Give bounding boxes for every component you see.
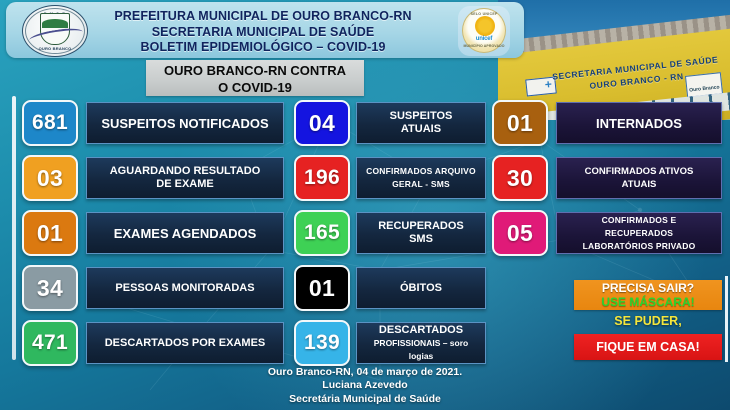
footer-signer-name: Luciana Azevedo <box>0 379 730 393</box>
title-line-2: SECRETARIA MUNICIPAL DE SAÚDE <box>98 25 428 41</box>
stat-value-badge: 01 <box>22 210 78 256</box>
stat-label: PESSOAS MONITORADAS <box>86 267 284 309</box>
advisory-line-1: PRECISA SAIR? <box>574 281 722 295</box>
stat-value-badge: 05 <box>492 210 548 256</box>
stat-value-badge: 471 <box>22 320 78 366</box>
stat-label-line: LABORATÓRIOS PRIVADO <box>583 240 696 253</box>
stat-label-line: EXAMES AGENDADOS <box>114 227 257 240</box>
stat-label: AGUARDANDO RESULTADODE EXAME <box>86 157 284 199</box>
unicef-seal-disc: SELO UNICEF unicef MUNICÍPIO APROVADO <box>462 8 506 53</box>
stat-label-line: SUSPEITOS NOTIFICADOS <box>101 117 268 130</box>
advisory-vertical-rail <box>725 276 728 362</box>
stat-label: DESCARTADOSPROFISSIONAIS – soro logias <box>356 322 486 364</box>
stat-label-line: CONFIRMADOS ATIVOS <box>585 165 694 178</box>
stat-label: CONFIRMADOS ATIVOSATUAIS <box>556 157 722 199</box>
stat-label: RECUPERADOSSMS <box>356 212 486 254</box>
stat-label-line: RECUPERADOS <box>583 227 696 240</box>
stat-value-badge: 30 <box>492 155 548 201</box>
header-bar: P M O B OURO BRANCO PREFEITURA MUNICIPAL… <box>6 2 524 58</box>
stat-row: 01EXAMES AGENDADOS165RECUPERADOSSMS05CON… <box>0 206 730 261</box>
stat-label-line: SMS <box>378 233 464 246</box>
stat-label: CONFIRMADOS ERECUPERADOSLABORATÓRIOS PRI… <box>556 212 722 254</box>
stat-value-badge: 04 <box>294 100 350 146</box>
stat-value-badge: 165 <box>294 210 350 256</box>
crest-hill <box>42 19 68 28</box>
advisory-stay-home-box: FIQUE EM CASA! <box>574 334 722 360</box>
stat-label-line: ATUAIS <box>585 178 694 191</box>
stat-value-badge: 139 <box>294 320 350 366</box>
stat-label-line: AGUARDANDO RESULTADO <box>110 165 261 178</box>
advisory-mask-box: PRECISA SAIR? USE MÁSCARA! <box>574 280 722 310</box>
footer-signer-role: Secretária Municipal de Saúde <box>0 393 730 407</box>
stat-label: EXAMES AGENDADOS <box>86 212 284 254</box>
stat-label: SUSPEITOS NOTIFICADOS <box>86 102 284 144</box>
stat-label-line: DE EXAME <box>110 178 261 191</box>
advisory-panel: PRECISA SAIR? USE MÁSCARA! SE PUDER, FIQ… <box>574 280 722 360</box>
campaign-banner-line2: O COVID-19 <box>146 79 364 96</box>
advisory-line-2: USE MÁSCARA! <box>574 295 722 309</box>
campaign-banner-line1: OURO BRANCO-RN CONTRA <box>146 62 364 79</box>
stat-label-line: CONFIRMADOS E <box>583 214 696 227</box>
stat-label-line: GERAL - SMS <box>366 178 476 191</box>
footer: Ouro Branco-RN, 04 de março de 2021. Luc… <box>0 366 730 407</box>
stat-value-badge: 01 <box>492 100 548 146</box>
stat-label-line: CONFIRMADOS ARQUIVO <box>366 165 476 178</box>
stat-value-badge: 681 <box>22 100 78 146</box>
advisory-line-3: SE PUDER, <box>574 310 722 334</box>
stat-label-line: PROFISSIONAIS – soro logias <box>363 337 479 363</box>
unicef-sun <box>475 16 495 36</box>
unicef-subtext: MUNICÍPIO APROVADO <box>463 44 505 48</box>
title-line-1: PREFEITURA MUNICIPAL DE OURO BRANCO-RN <box>98 9 428 25</box>
stat-label-line: INTERNADOS <box>596 117 682 130</box>
stat-label: SUSPEITOSATUAIS <box>356 102 486 144</box>
footer-location-date: Ouro Branco-RN, 04 de março de 2021. <box>0 366 730 380</box>
stat-label-line: SUSPEITOS <box>390 110 453 123</box>
stat-label-line: RECUPERADOS <box>378 220 464 233</box>
stat-label-line: PESSOAS MONITORADAS <box>115 282 254 295</box>
stat-value-badge: 03 <box>22 155 78 201</box>
stat-label-line: DESCARTADOS POR EXAMES <box>105 337 266 350</box>
stat-row: 03AGUARDANDO RESULTADODE EXAME196CONFIRM… <box>0 151 730 206</box>
stat-label: CONFIRMADOS ARQUIVOGERAL - SMS <box>356 157 486 199</box>
campaign-banner: OURO BRANCO-RN CONTRA O COVID-19 <box>146 60 364 96</box>
title-line-3: BOLETIM EPIDEMIOLÓGICO – COVID-19 <box>98 40 428 56</box>
unicef-wordmark: unicef <box>463 36 505 42</box>
stat-value-badge: 01 <box>294 265 350 311</box>
stat-label: ÓBITOS <box>356 267 486 309</box>
municipal-coat-of-arms-icon: P M O B OURO BRANCO <box>22 5 88 57</box>
unicef-seal-icon: SELO UNICEF unicef MUNICÍPIO APROVADO <box>458 6 510 56</box>
stat-label-line: ÓBITOS <box>400 282 442 295</box>
stat-value-badge: 196 <box>294 155 350 201</box>
stat-value-badge: 34 <box>22 265 78 311</box>
stat-label: DESCARTADOS POR EXAMES <box>86 322 284 364</box>
stat-label: INTERNADOS <box>556 102 722 144</box>
crest-caption: OURO BRANCO <box>23 46 87 51</box>
stat-row: 681SUSPEITOS NOTIFICADOS04SUSPEITOSATUAI… <box>0 96 730 151</box>
page-title: PREFEITURA MUNICIPAL DE OURO BRANCO-RN S… <box>98 9 428 56</box>
stat-label-line: DESCARTADOS <box>363 324 479 337</box>
stat-label-line: ATUAIS <box>390 123 453 136</box>
